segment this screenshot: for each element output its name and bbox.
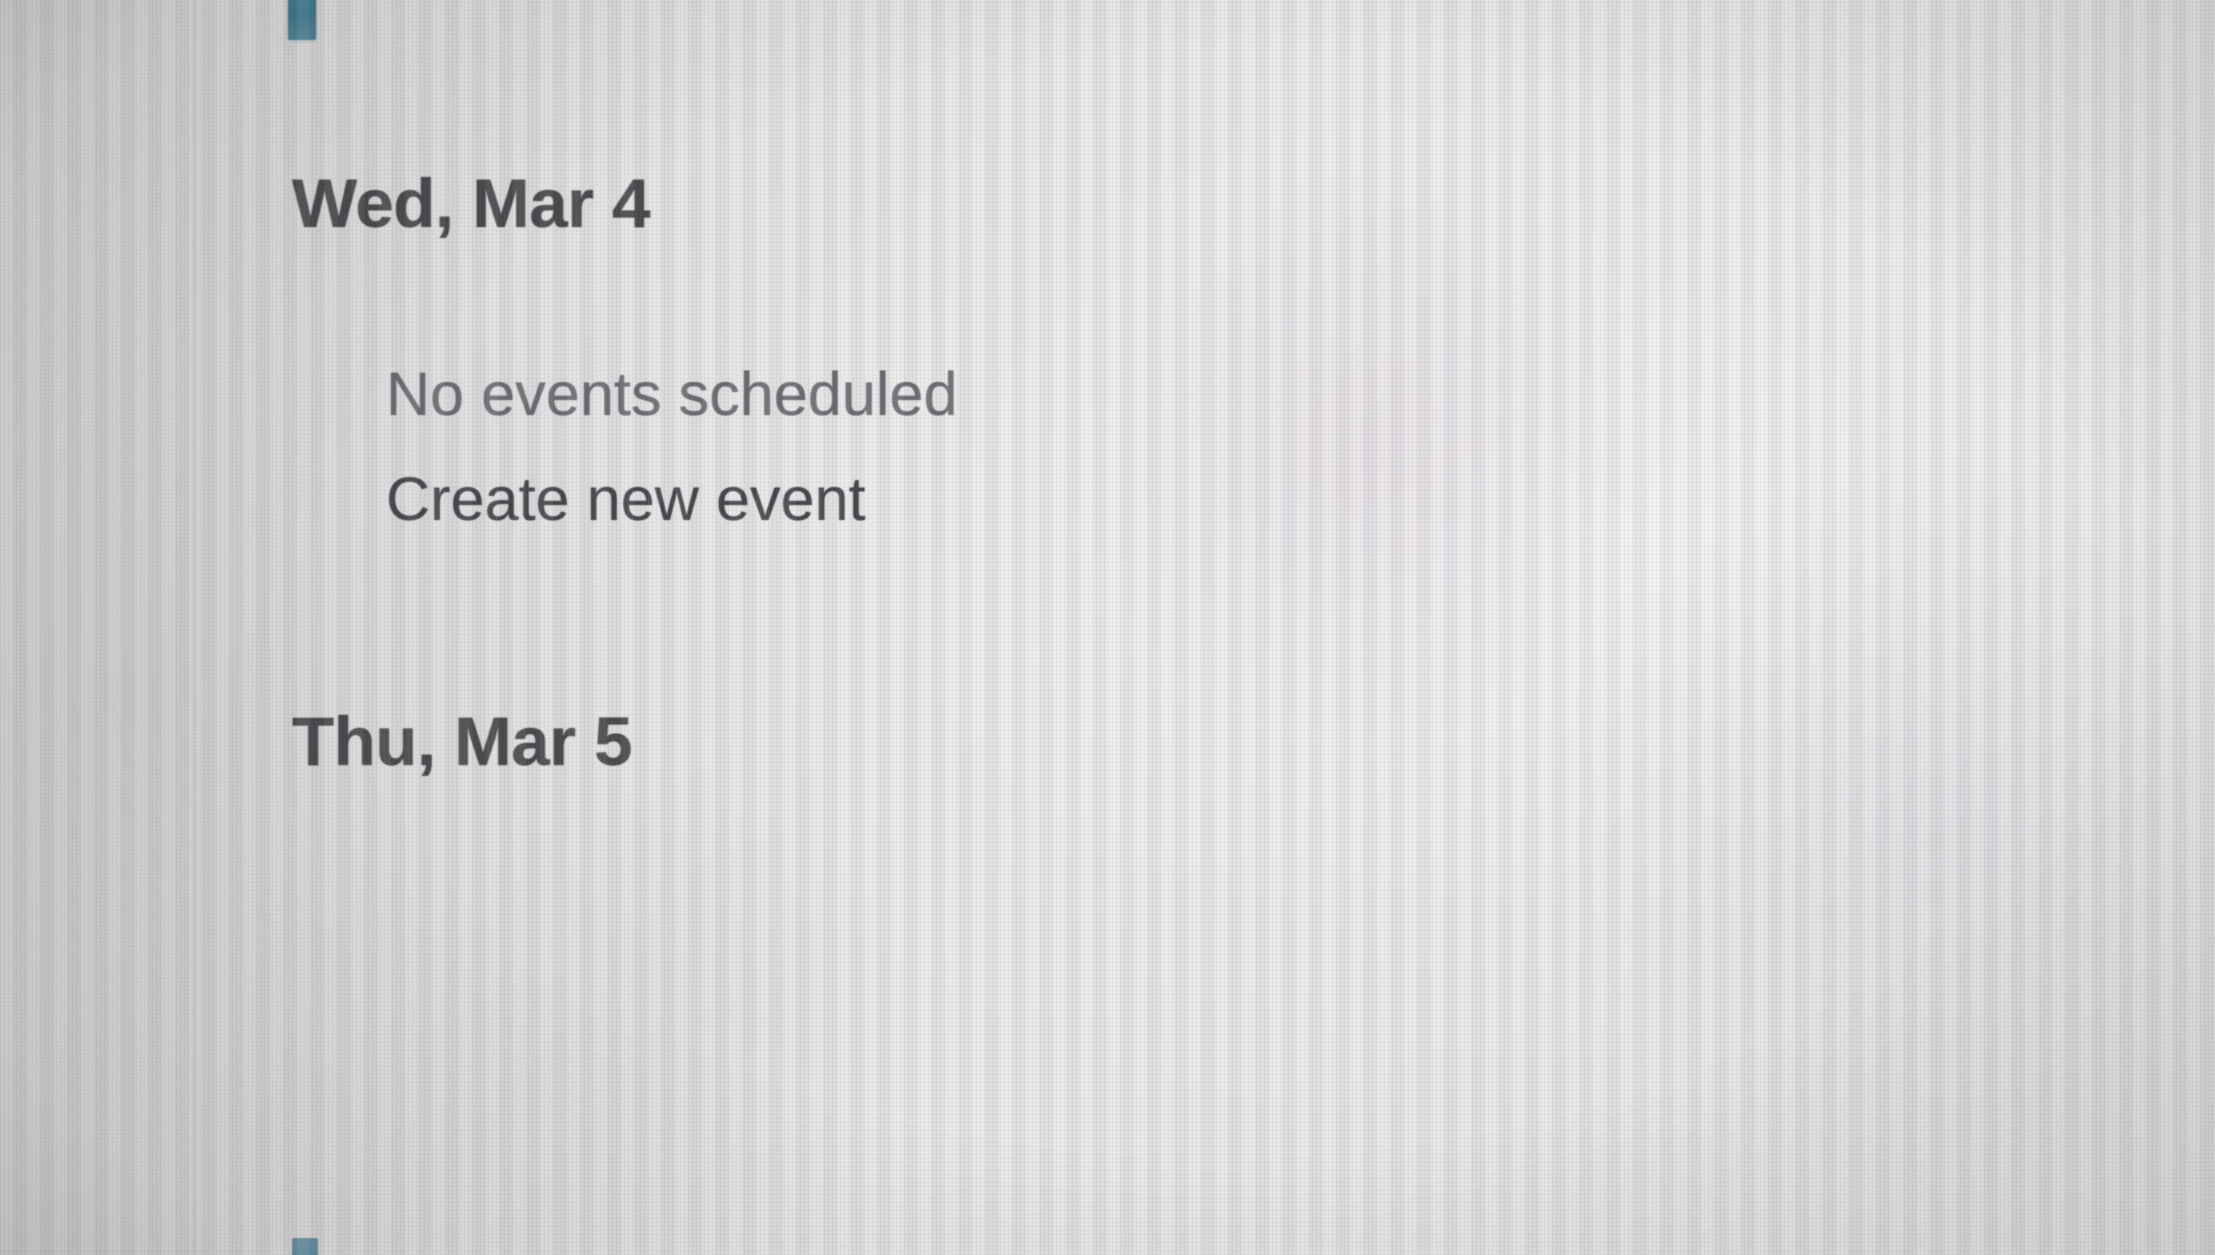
event-color-chip-icon[interactable] — [292, 1238, 318, 1255]
no-events-label: No events scheduled — [386, 364, 958, 425]
sidebar-divider — [193, 0, 196, 1255]
create-new-event-link[interactable]: Create new event — [386, 469, 958, 530]
day-heading-thu: Thu, Mar 5 — [292, 702, 632, 781]
agenda-event-list: No events scheduled Create new event — [386, 364, 958, 530]
screen-photo: Wed, Mar 4 No events scheduled Create ne… — [0, 0, 2215, 1255]
day-heading-wed: Wed, Mar 4 — [292, 164, 650, 243]
calendar-agenda-pane: Wed, Mar 4 No events scheduled Create ne… — [0, 0, 2215, 1255]
event-color-chip-icon[interactable] — [288, 0, 316, 40]
